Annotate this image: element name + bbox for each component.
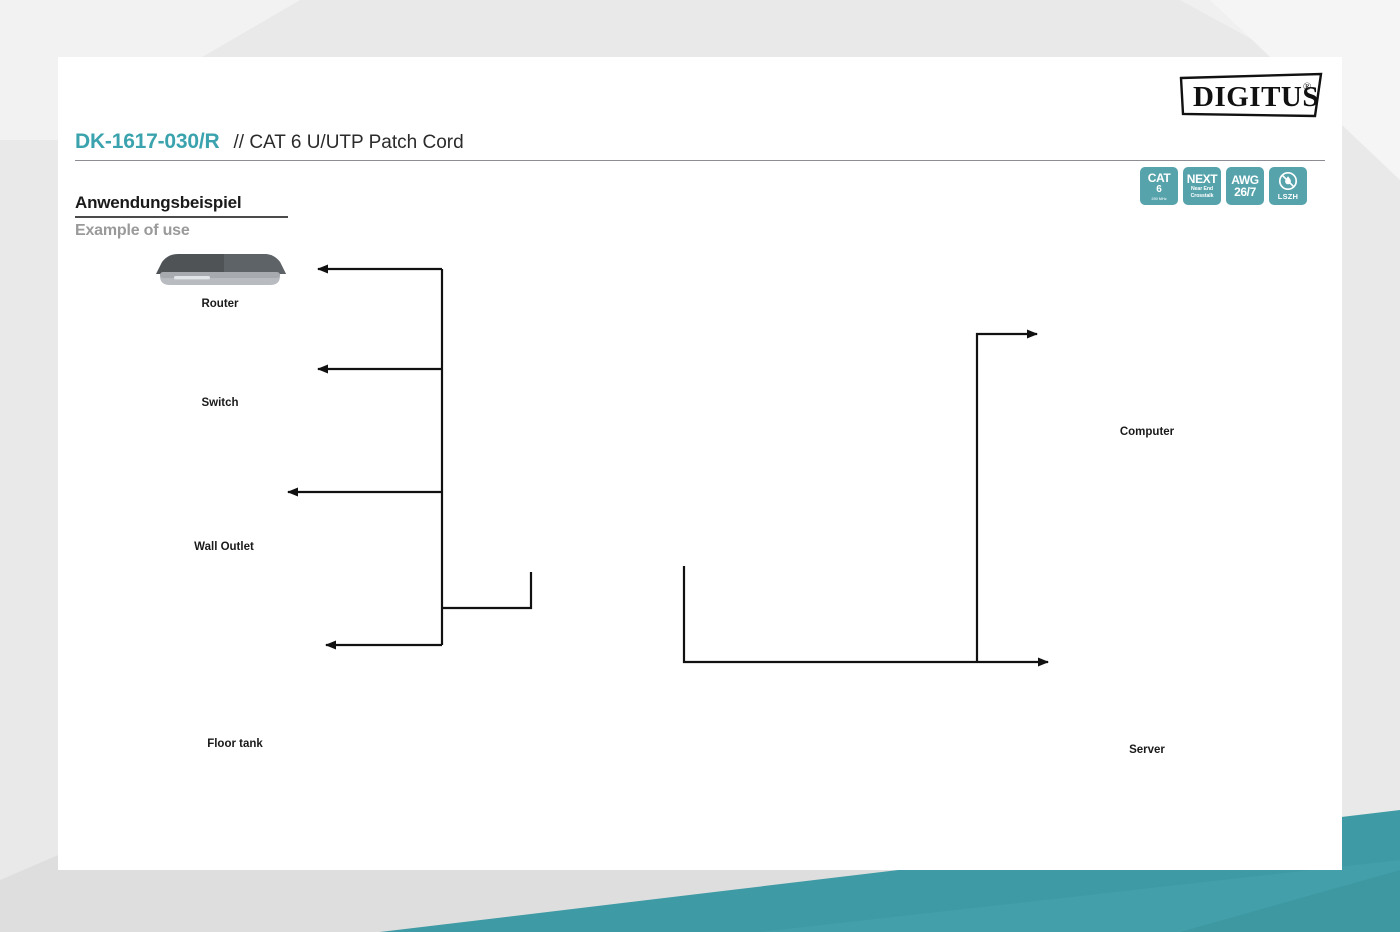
label-wall-outlet: Wall Outlet (169, 541, 279, 553)
left-feed-from-connector (442, 572, 531, 608)
slide-canvas: DIGITUS ® DK-1617-030/R // CAT 6 U/UTP P… (0, 0, 1400, 932)
label-switch: Switch (165, 397, 275, 409)
right-connector-lines (684, 334, 1048, 662)
arrow-to-server (684, 566, 1048, 662)
application-diagram (0, 0, 1400, 932)
left-connector-lines (288, 269, 531, 645)
arrow-to-computer (977, 334, 1037, 662)
label-server: Server (1105, 744, 1189, 756)
label-computer: Computer (1092, 426, 1202, 438)
router-icon (156, 254, 286, 285)
label-router: Router (165, 298, 275, 310)
label-floor-tank: Floor tank (180, 738, 290, 750)
